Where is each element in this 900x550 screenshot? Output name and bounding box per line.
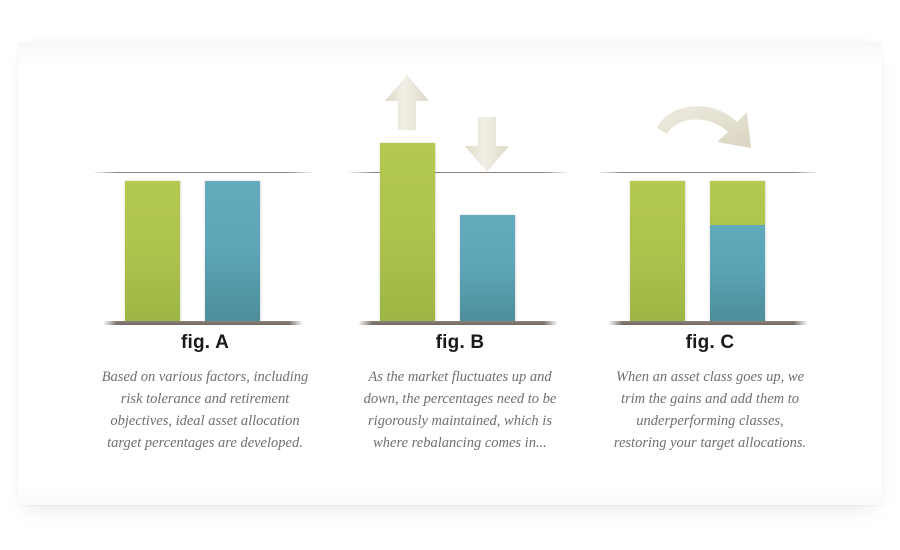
- figure-a-title: fig. A: [70, 332, 340, 354]
- figure-b-caption: fig. B As the market fluctuates up and d…: [325, 332, 595, 454]
- baseline-fade-right: [289, 321, 303, 325]
- target-allocation-line: [597, 172, 819, 173]
- curved-arrow-svg: [651, 100, 771, 164]
- curved-transfer-arrow-icon: [651, 100, 771, 164]
- baseline-fade-right: [794, 321, 808, 325]
- figure-b-graphic: [325, 60, 595, 325]
- figure-a-description: Based on various factors, including risk…: [70, 366, 340, 454]
- figure-c-graphic: [575, 60, 845, 325]
- baseline-fade-left: [358, 321, 372, 325]
- figure-a-baseline: [103, 321, 303, 325]
- figure-b-fixed-income-bar: [460, 215, 515, 322]
- baseline-fade-left: [608, 321, 622, 325]
- figure-a: fig. A Based on various factors, includi…: [70, 60, 340, 480]
- figure-a-graphic: [70, 60, 340, 325]
- figure-b-title: fig. B: [325, 332, 595, 354]
- figure-c-equity-bar: [630, 181, 685, 322]
- figure-b-equity-bar: [380, 143, 435, 322]
- figure-c-fixed-income-segment: [710, 225, 765, 322]
- figure-c-added-gains-segment: [710, 181, 765, 225]
- figure-c-baseline: [608, 321, 808, 325]
- figure-b-description: As the market fluctuates up and down, th…: [325, 366, 595, 454]
- figure-c-caption: fig. C When an asset class goes up, we t…: [575, 332, 845, 454]
- figure-b-baseline: [358, 321, 558, 325]
- figure-b: fig. B As the market fluctuates up and d…: [325, 60, 595, 480]
- up-arrow-icon: [384, 74, 430, 130]
- figure-c-rebalanced-stacked-bar: [710, 181, 765, 322]
- down-arrow-icon: [464, 117, 510, 173]
- baseline-fade-right: [544, 321, 558, 325]
- figure-a-caption: fig. A Based on various factors, includi…: [70, 332, 340, 454]
- figure-c-title: fig. C: [575, 332, 845, 354]
- baseline-fade-left: [103, 321, 117, 325]
- figure-a-fixed-income-bar: [205, 181, 260, 322]
- figure-a-equity-bar: [125, 181, 180, 322]
- up-arrow-svg: [384, 74, 430, 130]
- down-arrow-svg: [464, 117, 510, 173]
- target-allocation-line: [92, 172, 314, 173]
- figures-container: fig. A Based on various factors, includi…: [0, 0, 900, 550]
- figure-c-description: When an asset class goes up, we trim the…: [575, 366, 845, 454]
- figure-c: fig. C When an asset class goes up, we t…: [575, 60, 845, 480]
